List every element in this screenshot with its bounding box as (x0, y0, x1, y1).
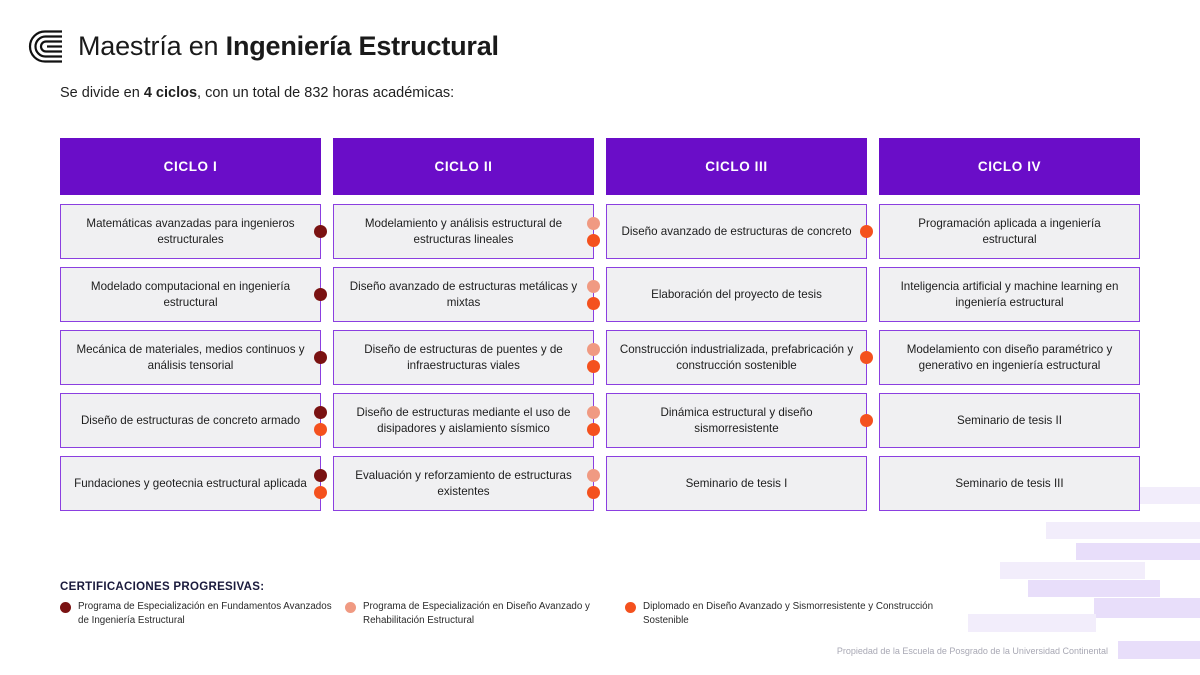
certification-dots (860, 331, 873, 384)
decorative-bar (1046, 522, 1200, 539)
course-card-label: Modelamiento con diseño paramétrico y ge… (890, 342, 1129, 373)
page-subtitle: Se divide en 4 ciclos, con un total de 8… (60, 85, 454, 101)
legend-item: Programa de Especialización en Diseño Av… (345, 600, 625, 628)
page-title-bold: Ingeniería Estructural (226, 31, 499, 61)
certification-dots (587, 394, 600, 447)
certification-dot-salmon (587, 469, 600, 482)
certification-dot-orange (314, 423, 327, 436)
course-card-label: Matemáticas avanzadas para ingenieros es… (71, 216, 310, 247)
course-card[interactable]: Diseño avanzado de estructuras metálicas… (333, 267, 594, 322)
course-card[interactable]: Modelado computacional en ingeniería est… (60, 267, 321, 322)
certification-dot-orange (587, 423, 600, 436)
cycle-header-4: CICLO IV (879, 138, 1140, 195)
course-card-list: Programación aplicada a ingeniería estru… (879, 204, 1140, 511)
course-card-label: Dinámica estructural y diseño sismorresi… (617, 405, 856, 436)
certification-dot-dark-red (314, 288, 327, 301)
course-card[interactable]: Modelamiento y análisis estructural de e… (333, 204, 594, 259)
certification-dots (587, 331, 600, 384)
certification-dots (314, 457, 327, 510)
legend-dot-orange (625, 602, 636, 613)
decorative-bar (1000, 562, 1145, 579)
certification-dot-dark-red (314, 406, 327, 419)
certification-dot-dark-red (314, 469, 327, 482)
decorative-bar (1118, 641, 1200, 659)
certification-dot-orange (314, 486, 327, 499)
course-card-label: Inteligencia artificial y machine learni… (890, 279, 1129, 310)
certification-dots (587, 205, 600, 258)
subtitle-pre: Se divide en (60, 85, 144, 101)
course-card-label: Diseño avanzado de estructuras metálicas… (344, 279, 583, 310)
course-card-label: Programación aplicada a ingeniería estru… (890, 216, 1129, 247)
certification-dots (860, 205, 873, 258)
course-card-label: Seminario de tesis II (957, 413, 1062, 429)
cycles-grid: CICLO IMatemáticas avanzadas para ingeni… (60, 138, 1140, 511)
certification-dots (314, 331, 327, 384)
slide-root: Maestría en Ingeniería Estructural Se di… (0, 0, 1200, 675)
course-card-label: Fundaciones y geotecnia estructural apli… (74, 476, 307, 492)
course-card-label: Diseño de estructuras de puentes y de in… (344, 342, 583, 373)
course-card[interactable]: Construcción industrializada, prefabrica… (606, 330, 867, 385)
certification-dot-salmon (587, 406, 600, 419)
course-card-label: Mecánica de materiales, medios continuos… (71, 342, 310, 373)
cycle-header-2: CICLO II (333, 138, 594, 195)
course-card-label: Diseño de estructuras mediante el uso de… (344, 405, 583, 436)
decorative-bar (1076, 543, 1200, 560)
cycle-column: CICLO IIModelamiento y análisis estructu… (333, 138, 594, 511)
page-header: Maestría en Ingeniería Estructural (28, 30, 499, 63)
certification-dot-orange (860, 225, 873, 238)
course-card-label: Construcción industrializada, prefabrica… (617, 342, 856, 373)
course-card[interactable]: Seminario de tesis III (879, 456, 1140, 511)
certification-dot-dark-red (314, 225, 327, 238)
course-card-list: Diseño avanzado de estructuras de concre… (606, 204, 867, 511)
certification-dot-orange (587, 360, 600, 373)
cycle-header-1: CICLO I (60, 138, 321, 195)
certification-dot-orange (860, 351, 873, 364)
course-card-label: Modelado computacional en ingeniería est… (71, 279, 310, 310)
course-card[interactable]: Programación aplicada a ingeniería estru… (879, 204, 1140, 259)
cycle-column: CICLO IIIDiseño avanzado de estructuras … (606, 138, 867, 511)
course-card-label: Modelamiento y análisis estructural de e… (344, 216, 583, 247)
certification-dots (314, 205, 327, 258)
subtitle-post: , con un total de 832 horas académicas: (197, 85, 454, 101)
subtitle-highlight: 4 ciclos (144, 85, 197, 101)
course-card-label: Seminario de tesis III (955, 476, 1063, 492)
legend-item-label: Diplomado en Diseño Avanzado y Sismorres… (643, 600, 955, 628)
course-card-label: Seminario de tesis I (686, 476, 788, 492)
course-card[interactable]: Mecánica de materiales, medios continuos… (60, 330, 321, 385)
cycle-column: CICLO IVProgramación aplicada a ingenier… (879, 138, 1140, 511)
decorative-bar (1130, 487, 1200, 504)
course-card[interactable]: Diseño de estructuras mediante el uso de… (333, 393, 594, 448)
legend-item-label: Programa de Especialización en Fundament… (78, 600, 345, 628)
course-card-label: Evaluación y reforzamiento de estructura… (344, 468, 583, 499)
certification-dot-salmon (587, 217, 600, 230)
decorative-bar (1094, 598, 1200, 618)
course-card[interactable]: Seminario de tesis II (879, 393, 1140, 448)
course-card-label: Diseño avanzado de estructuras de concre… (621, 224, 851, 240)
certification-dots (314, 268, 327, 321)
continental-book-logo-icon (28, 30, 64, 63)
course-card[interactable]: Fundaciones y geotecnia estructural apli… (60, 456, 321, 511)
legend-title: CERTIFICACIONES PROGRESIVAS: (60, 581, 264, 593)
course-card[interactable]: Modelamiento con diseño paramétrico y ge… (879, 330, 1140, 385)
course-card-list: Matemáticas avanzadas para ingenieros es… (60, 204, 321, 511)
course-card[interactable]: Seminario de tesis I (606, 456, 867, 511)
legend-dot-salmon (345, 602, 356, 613)
course-card-label: Diseño de estructuras de concreto armado (81, 413, 300, 429)
course-card[interactable]: Diseño de estructuras de concreto armado (60, 393, 321, 448)
course-card[interactable]: Elaboración del proyecto de tesis (606, 267, 867, 322)
legend-item-label: Programa de Especialización en Diseño Av… (363, 600, 625, 628)
legend: Programa de Especialización en Fundament… (60, 600, 1060, 628)
certification-dots (314, 394, 327, 447)
cycle-header-3: CICLO III (606, 138, 867, 195)
legend-item: Programa de Especialización en Fundament… (60, 600, 345, 628)
course-card-list: Modelamiento y análisis estructural de e… (333, 204, 594, 511)
decorative-bar (1028, 580, 1160, 597)
certification-dots (587, 268, 600, 321)
legend-item: Diplomado en Diseño Avanzado y Sismorres… (625, 600, 955, 628)
certification-dot-orange (587, 234, 600, 247)
course-card[interactable]: Diseño avanzado de estructuras de concre… (606, 204, 867, 259)
certification-dots (587, 457, 600, 510)
course-card[interactable]: Inteligencia artificial y machine learni… (879, 267, 1140, 322)
course-card[interactable]: Matemáticas avanzadas para ingenieros es… (60, 204, 321, 259)
certification-dot-orange (587, 297, 600, 310)
course-card[interactable]: Evaluación y reforzamiento de estructura… (333, 456, 594, 511)
page-title: Maestría en Ingeniería Estructural (78, 31, 499, 62)
certification-dot-salmon (587, 280, 600, 293)
footer-note: Propiedad de la Escuela de Posgrado de l… (837, 646, 1108, 656)
certification-dot-orange (860, 414, 873, 427)
course-card[interactable]: Dinámica estructural y diseño sismorresi… (606, 393, 867, 448)
course-card[interactable]: Diseño de estructuras de puentes y de in… (333, 330, 594, 385)
certification-dot-dark-red (314, 351, 327, 364)
certification-dot-salmon (587, 343, 600, 356)
page-title-light: Maestría en (78, 31, 226, 61)
certification-dots (860, 394, 873, 447)
cycle-column: CICLO IMatemáticas avanzadas para ingeni… (60, 138, 321, 511)
certification-dot-orange (587, 486, 600, 499)
legend-dot-dark-red (60, 602, 71, 613)
course-card-label: Elaboración del proyecto de tesis (651, 287, 822, 303)
